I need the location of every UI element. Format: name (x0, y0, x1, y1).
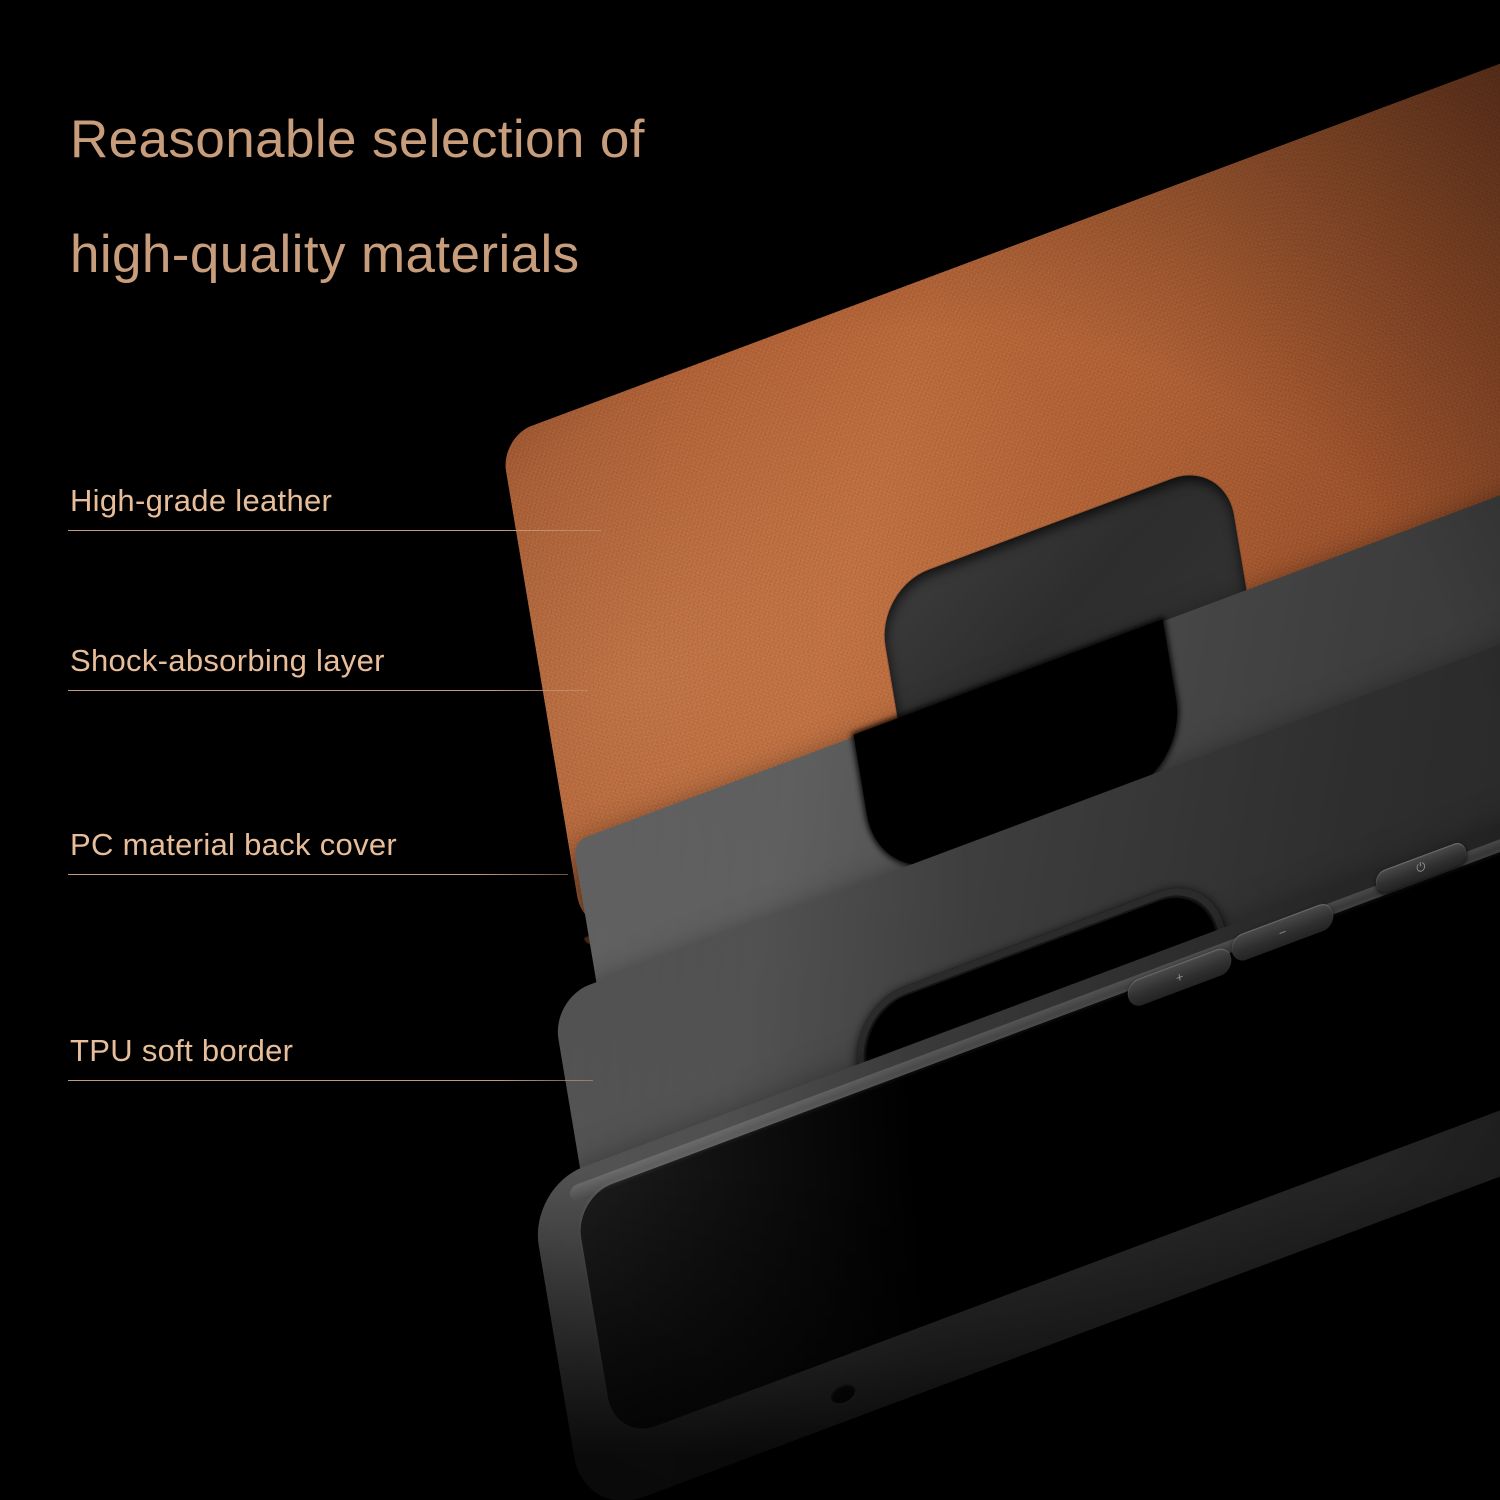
callout-pc-material-back-cover: PC material back cover (68, 828, 568, 875)
callout-label: PC material back cover (68, 828, 568, 862)
callout-shock-absorbing-layer: Shock-absorbing layer (68, 644, 588, 691)
callout-leader-line (68, 1080, 593, 1081)
callout-label: TPU soft border (68, 1034, 593, 1068)
callout-leader-line (68, 874, 568, 875)
product-feature-image: + − ⏻ Reasonable selection of high-quali… (0, 0, 1500, 1500)
page-title-line-2: high-quality materials (70, 197, 970, 312)
callout-high-grade-leather: High-grade leather (68, 484, 601, 531)
callout-leader-line (68, 530, 601, 531)
minus-icon: − (1278, 924, 1287, 940)
callout-leader-line (68, 690, 588, 691)
tpu-port-hole (830, 1381, 857, 1407)
callout-label: Shock-absorbing layer (68, 644, 588, 678)
page-title-line-1: Reasonable selection of (70, 82, 970, 197)
page-title: Reasonable selection of high-quality mat… (70, 82, 970, 312)
plus-icon: + (1175, 969, 1184, 985)
power-icon: ⏻ (1415, 860, 1426, 876)
callout-label: High-grade leather (68, 484, 601, 518)
callout-tpu-soft-border: TPU soft border (68, 1034, 593, 1081)
